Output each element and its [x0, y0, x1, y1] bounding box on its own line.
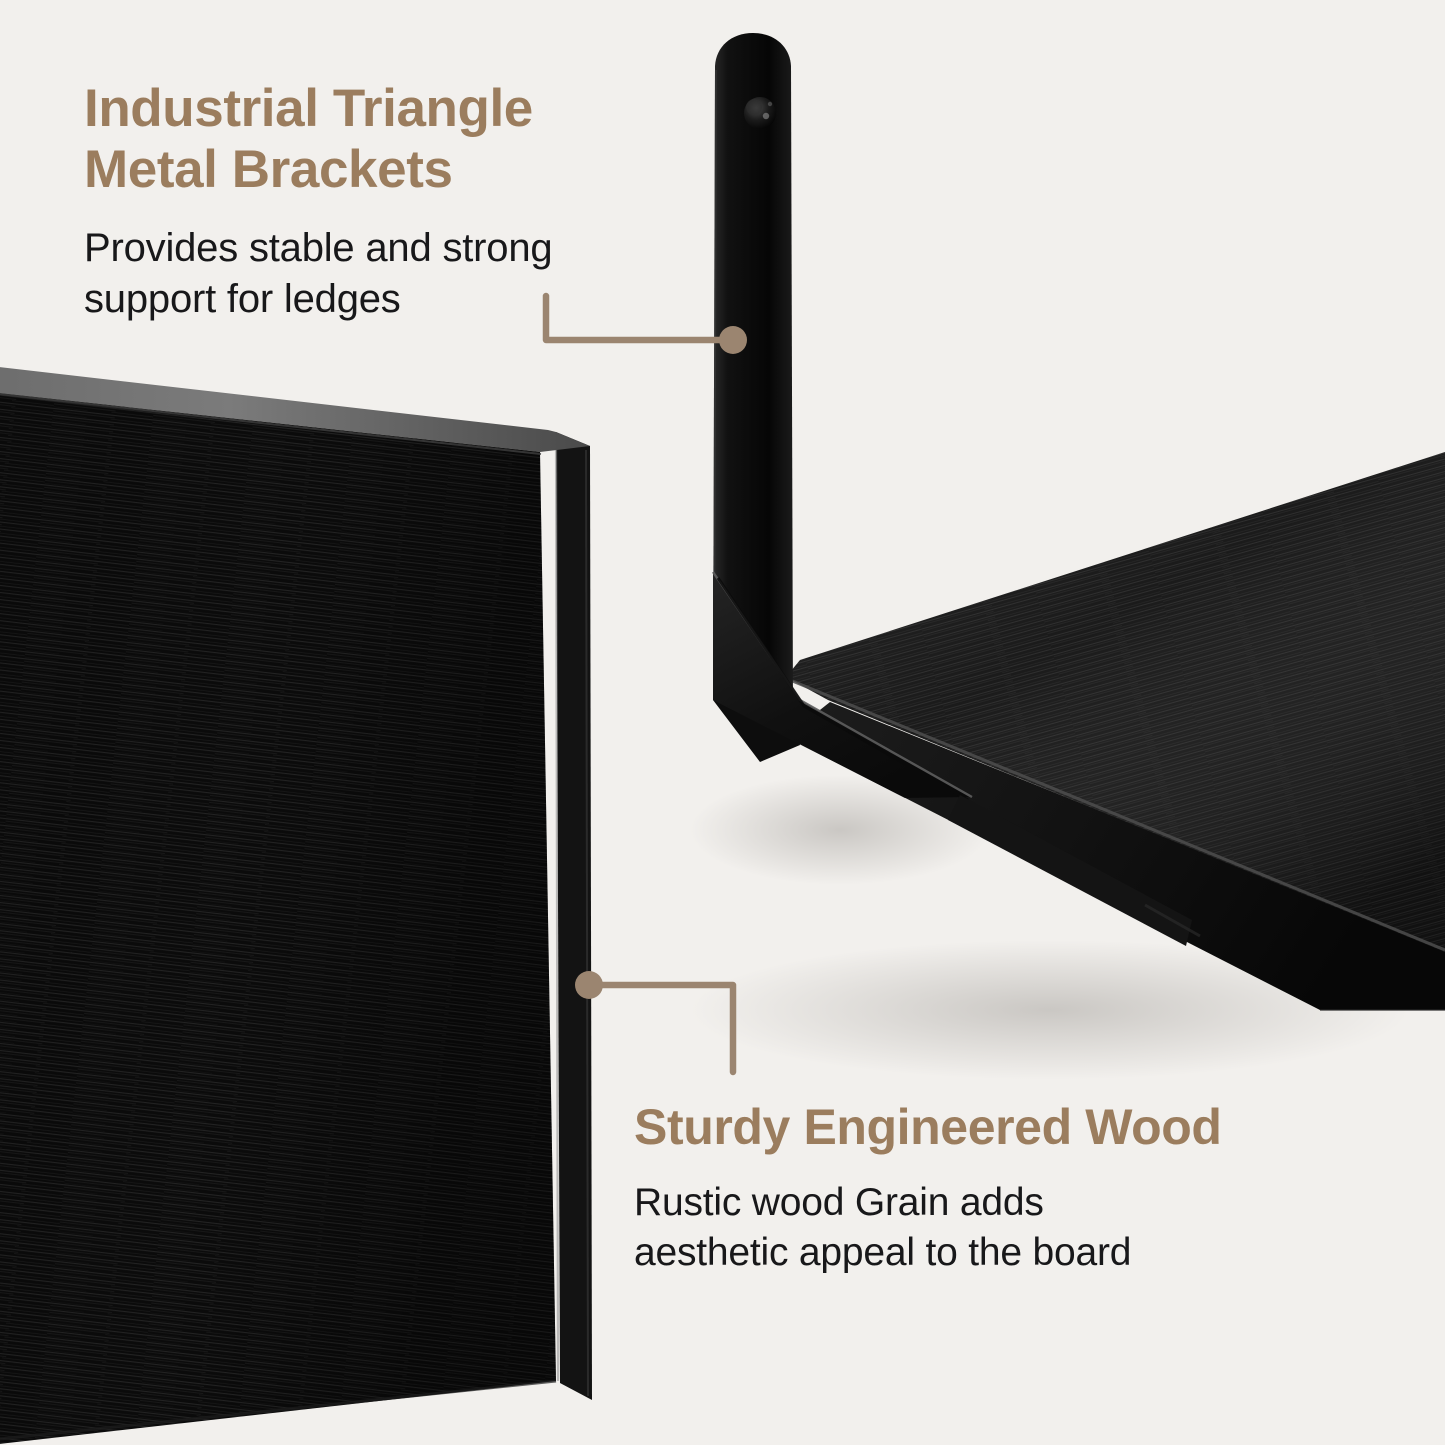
callout-subline-metal-brackets: Provides stable and strong support for l… [84, 223, 744, 325]
callout-subline-engineered-wood: Rustic wood Grain adds aesthetic appeal … [634, 1178, 1424, 1278]
callout-metal-brackets: Industrial Triangle Metal Brackets Provi… [84, 78, 744, 325]
product-infographic: Industrial Triangle Metal Brackets Provi… [0, 0, 1445, 1445]
callout-engineered-wood: Sturdy Engineered Wood Rustic wood Grain… [634, 1098, 1424, 1278]
bracket-screw-hole [744, 97, 776, 129]
board-front-shading [0, 392, 556, 1445]
callout-headline-engineered-wood: Sturdy Engineered Wood [634, 1098, 1424, 1156]
callout-headline-metal-brackets: Industrial Triangle Metal Brackets [84, 78, 744, 201]
leader-dot-bracket [719, 326, 747, 354]
wood-board-front [0, 366, 592, 1445]
leader-dot-wood [575, 971, 603, 999]
